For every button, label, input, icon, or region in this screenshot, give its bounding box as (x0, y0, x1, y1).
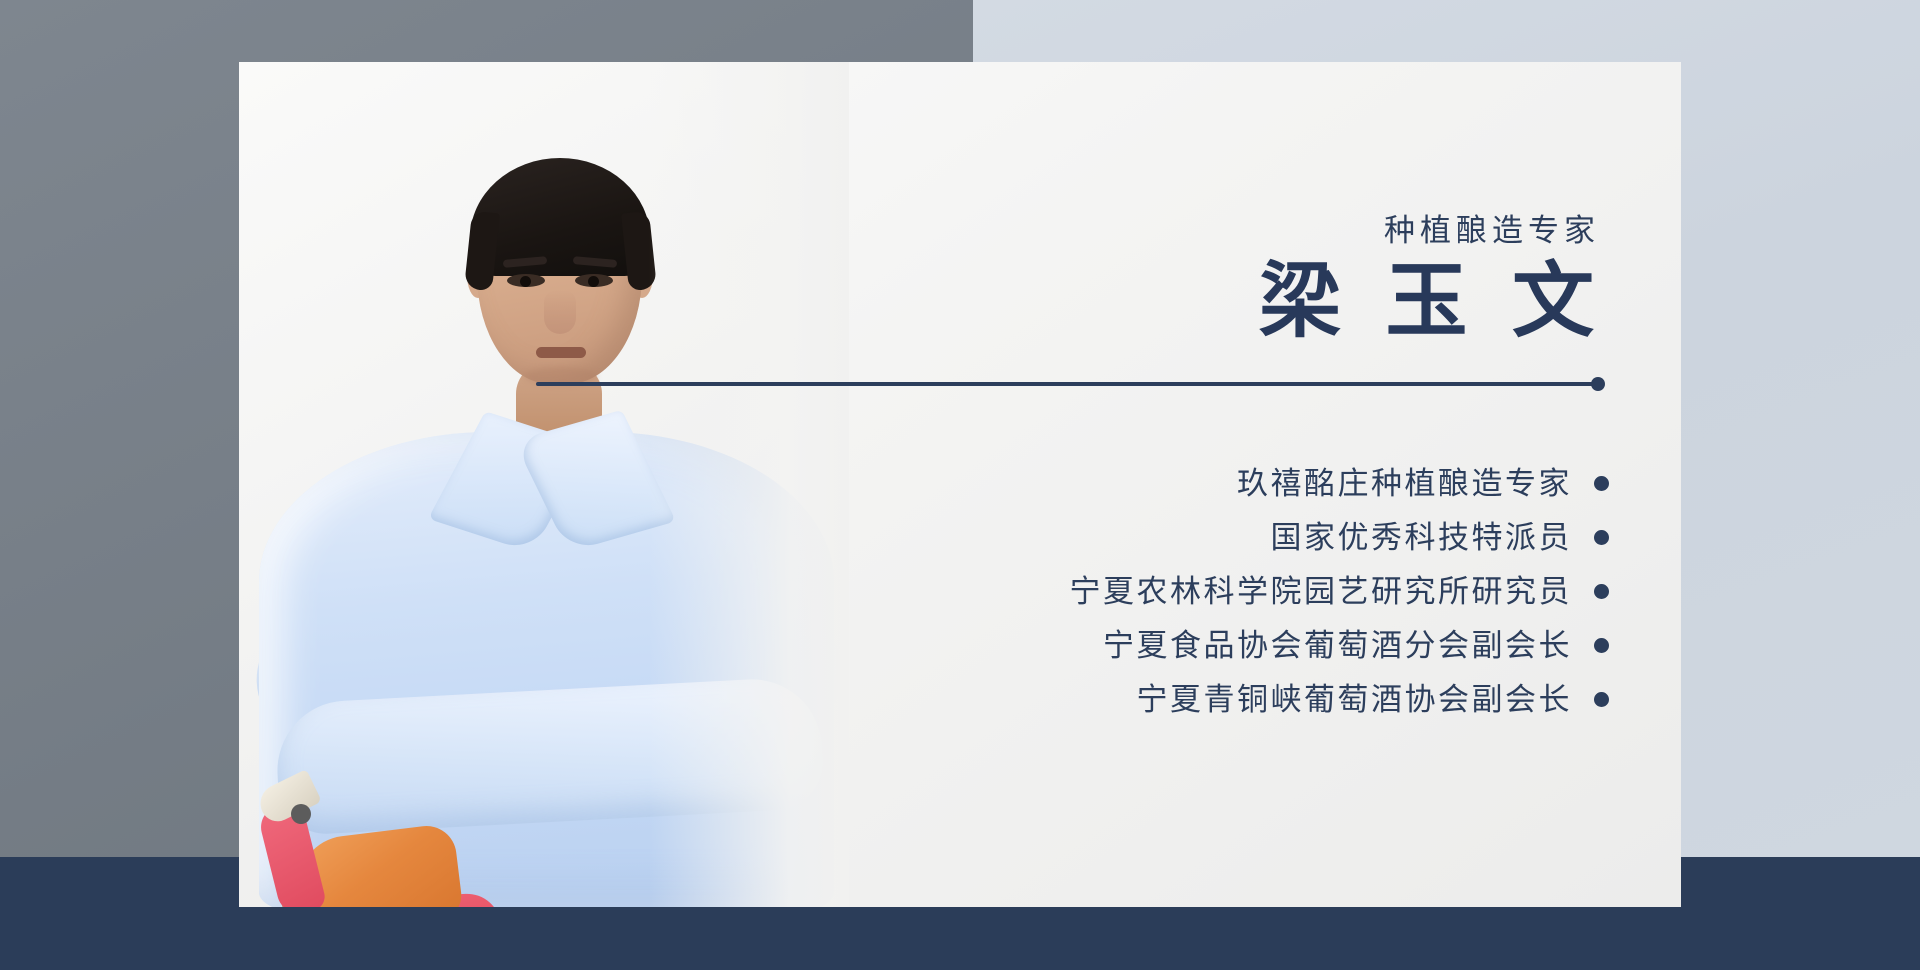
list-item: 宁夏农林科学院园艺研究所研究员 (239, 564, 1609, 618)
expert-name: 梁 玉 文 (239, 258, 1681, 347)
bullet-dot-icon (1594, 584, 1609, 599)
bullet-dot-icon (1594, 530, 1609, 545)
credential-label: 玖禧酩庄种植酿造专家 (1237, 468, 1572, 499)
bullet-dot-icon (1594, 692, 1609, 707)
list-item: 玖禧酩庄种植酿造专家 (239, 456, 1609, 510)
expert-role-subtitle: 种植酿造专家 (239, 215, 1681, 246)
bullet-dot-icon (1594, 476, 1609, 491)
divider-end-dot-icon (1591, 377, 1605, 391)
list-item: 宁夏食品协会葡萄酒分会副会长 (239, 618, 1609, 672)
credential-label: 宁夏农林科学院园艺研究所研究员 (1070, 576, 1573, 607)
credential-label: 国家优秀科技特派员 (1271, 522, 1573, 553)
credential-label: 宁夏食品协会葡萄酒分会副会长 (1103, 630, 1572, 661)
profile-card: 种植酿造专家 梁 玉 文 玖禧酩庄种植酿造专家 国家优秀科技特派员 宁夏农林科学… (239, 62, 1681, 907)
expert-profile-banner: 种植酿造专家 梁 玉 文 玖禧酩庄种植酿造专家 国家优秀科技特派员 宁夏农林科学… (0, 0, 1920, 970)
list-item: 宁夏青铜峡葡萄酒协会副会长 (239, 672, 1609, 726)
credentials-list: 玖禧酩庄种植酿造专家 国家优秀科技特派员 宁夏农林科学院园艺研究所研究员 宁夏食… (239, 456, 1681, 726)
pruning-shears-pivot (291, 804, 311, 824)
list-item: 国家优秀科技特派员 (239, 510, 1609, 564)
bullet-dot-icon (1594, 638, 1609, 653)
divider-rule (536, 382, 1599, 386)
credential-label: 宁夏青铜峡葡萄酒协会副会长 (1137, 684, 1573, 715)
portrait-mouth (536, 347, 586, 358)
